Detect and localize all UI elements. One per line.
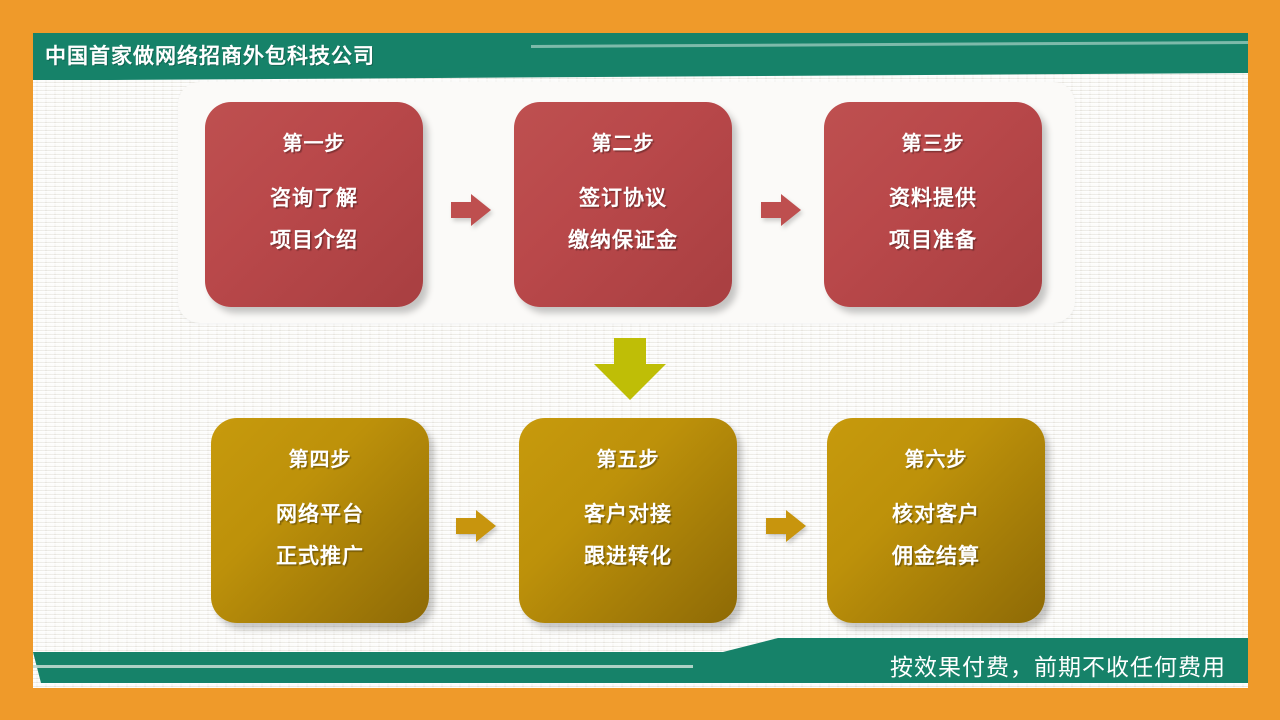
step-card-2-line-2: 缴纳保证金 bbox=[568, 224, 678, 254]
arrow-right-icon bbox=[766, 508, 806, 544]
step-card-5-title: 第五步 bbox=[597, 443, 660, 472]
step-card-6-line-1: 核对客户 bbox=[892, 498, 980, 528]
step-card-6-line-2: 佣金结算 bbox=[892, 540, 980, 570]
step-card-6-body: 核对客户 佣金结算 bbox=[892, 498, 980, 570]
slide-canvas: 中国首家做网络招商外包科技公司 第一步 咨询了解 项目介绍 第二步 签订协议 缴… bbox=[0, 0, 1280, 720]
step-card-4-line-1: 网络平台 bbox=[276, 498, 364, 528]
step-card-5-line-2: 跟进转化 bbox=[584, 540, 672, 570]
step-card-2-body: 签订协议 缴纳保证金 bbox=[568, 182, 678, 254]
step-card-1-body: 咨询了解 项目介绍 bbox=[270, 182, 358, 254]
footer-tagline: 按效果付费，前期不收任何费用 bbox=[890, 648, 1226, 682]
step-card-1-line-1: 咨询了解 bbox=[270, 182, 358, 212]
step-card-4-title: 第四步 bbox=[289, 443, 352, 472]
step-card-3-line-2: 项目准备 bbox=[889, 224, 977, 254]
step-card-4-body: 网络平台 正式推广 bbox=[276, 498, 364, 570]
step-card-4[interactable]: 第四步 网络平台 正式推广 bbox=[211, 418, 429, 623]
step-card-1-line-2: 项目介绍 bbox=[270, 224, 358, 254]
step-card-3[interactable]: 第三步 资料提供 项目准备 bbox=[824, 102, 1042, 307]
arrow-right-icon bbox=[761, 192, 801, 228]
step-card-2-line-1: 签订协议 bbox=[579, 182, 667, 212]
step-card-2-title: 第二步 bbox=[592, 127, 655, 156]
step-card-1-title: 第一步 bbox=[283, 127, 346, 156]
step-card-5-line-1: 客户对接 bbox=[584, 498, 672, 528]
header-band: 中国首家做网络招商外包科技公司 bbox=[33, 33, 1248, 77]
step-card-5-body: 客户对接 跟进转化 bbox=[584, 498, 672, 570]
arrow-right-icon bbox=[456, 508, 496, 544]
step-card-4-line-2: 正式推广 bbox=[276, 540, 364, 570]
footer-band: 按效果付费，前期不收任何费用 bbox=[33, 635, 1248, 688]
step-card-6-title: 第六步 bbox=[905, 443, 968, 472]
arrow-down-icon bbox=[592, 338, 668, 400]
step-card-3-title: 第三步 bbox=[902, 127, 965, 156]
step-card-3-line-1: 资料提供 bbox=[889, 182, 977, 212]
step-card-1[interactable]: 第一步 咨询了解 项目介绍 bbox=[205, 102, 423, 307]
page-title: 中国首家做网络招商外包科技公司 bbox=[45, 40, 375, 70]
step-card-3-body: 资料提供 项目准备 bbox=[889, 182, 977, 254]
step-card-2[interactable]: 第二步 签订协议 缴纳保证金 bbox=[514, 102, 732, 307]
arrow-right-icon bbox=[451, 192, 491, 228]
step-card-6[interactable]: 第六步 核对客户 佣金结算 bbox=[827, 418, 1045, 623]
step-card-5[interactable]: 第五步 客户对接 跟进转化 bbox=[519, 418, 737, 623]
